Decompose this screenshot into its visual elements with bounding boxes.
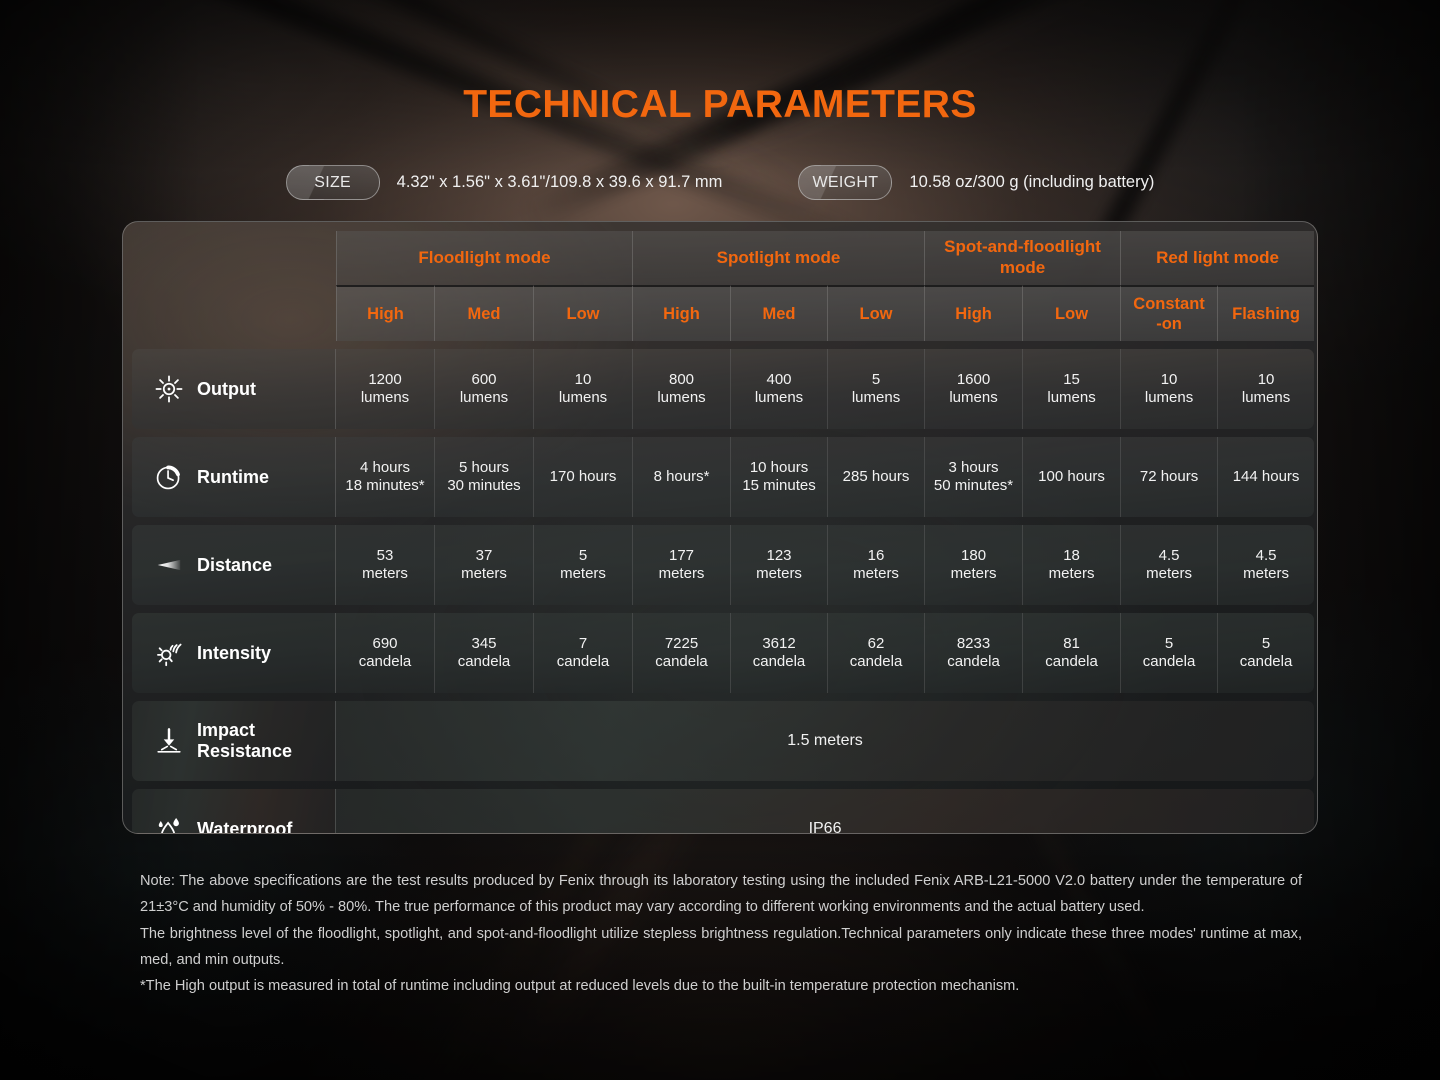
mode-group-spotlight: Spotlight mode <box>632 231 924 285</box>
cell-output-3: 800lumens <box>632 349 730 429</box>
technical-parameters-page: TECHNICAL PARAMETERS SIZE 4.32" x 1.56" … <box>0 0 1440 1080</box>
cell-runtime-9: 144 hours <box>1217 437 1314 517</box>
page-title: TECHNICAL PARAMETERS <box>0 83 1440 127</box>
cell-intensity-0: 690candela <box>336 613 434 693</box>
cell-intensity-8: 5candela <box>1120 613 1217 693</box>
beam-icon <box>154 550 184 580</box>
row-label-runtime: Runtime <box>132 437 336 517</box>
notes-section: Note: The above specifications are the t… <box>140 868 1302 999</box>
row-label-text-runtime: Runtime <box>197 467 269 488</box>
row-label-intensity: Intensity <box>132 613 336 693</box>
table-row-runtime: Runtime 4 hours18 minutes* 5 hours30 min… <box>132 437 1314 517</box>
mode-group-floodlight: Floodlight mode <box>336 231 632 285</box>
header-corner-cell-2 <box>132 285 336 341</box>
cell-output-4: 400lumens <box>730 349 827 429</box>
table-row-waterproof: Waterproof IP66 <box>132 789 1314 834</box>
cell-waterproof-value: IP66 <box>336 789 1314 834</box>
mode-group-spot-and-floodlight: Spot-and-floodlight mode <box>924 231 1120 285</box>
row-label-text-impact: Impact Resistance <box>197 720 292 761</box>
cell-runtime-8: 72 hours <box>1120 437 1217 517</box>
weight-badge: WEIGHT <box>798 165 892 200</box>
cell-impact-resistance-value: 1.5 meters <box>336 701 1314 781</box>
row-label-text-waterproof: Waterproof <box>197 819 292 834</box>
cell-output-7: 15lumens <box>1022 349 1120 429</box>
level-spot-low: Low <box>827 285 924 341</box>
row-label-waterproof: Waterproof <box>132 789 336 834</box>
cell-distance-8: 4.5meters <box>1120 525 1217 605</box>
level-red-flashing: Flashing <box>1217 285 1314 341</box>
sun-icon <box>154 374 184 404</box>
row-label-text-intensity: Intensity <box>197 643 271 664</box>
cell-distance-2: 5meters <box>533 525 632 605</box>
specifications-table: Floodlight mode Spotlight mode Spot-and-… <box>132 231 1314 834</box>
header-corner-cell <box>132 231 336 285</box>
clock-icon <box>154 462 184 492</box>
cell-runtime-0: 4 hours18 minutes* <box>336 437 434 517</box>
table-body: Output 1200lumens 600lumens 10lumens 800… <box>132 341 1314 834</box>
level-header-row: High Med Low High Med Low High Low Const… <box>132 285 1314 341</box>
table-row-impact-resistance: Impact Resistance 1.5 meters <box>132 701 1314 781</box>
size-badge: SIZE <box>286 165 380 200</box>
row-label-impact-resistance: Impact Resistance <box>132 701 336 781</box>
cell-output-9: 10lumens <box>1217 349 1314 429</box>
cell-output-0: 1200lumens <box>336 349 434 429</box>
cell-intensity-2: 7candela <box>533 613 632 693</box>
note-2: The brightness level of the floodlight, … <box>140 921 1302 974</box>
cell-runtime-7: 100 hours <box>1022 437 1120 517</box>
cell-distance-9: 4.5meters <box>1217 525 1314 605</box>
level-flood-med: Med <box>434 285 533 341</box>
cell-intensity-1: 345candela <box>434 613 533 693</box>
cell-runtime-5: 285 hours <box>827 437 924 517</box>
cell-runtime-1: 5 hours30 minutes <box>434 437 533 517</box>
level-flood-low: Low <box>533 285 632 341</box>
intensity-icon <box>154 638 184 668</box>
cell-distance-7: 18meters <box>1022 525 1120 605</box>
table-header: Floodlight mode Spotlight mode Spot-and-… <box>132 231 1314 341</box>
row-label-text-distance: Distance <box>197 555 272 576</box>
table-row-distance: Distance 53meters 37meters 5meters 177me… <box>132 525 1314 605</box>
weight-spec: WEIGHT 10.58 oz/300 g (including battery… <box>798 165 1154 200</box>
cell-intensity-7: 81candela <box>1022 613 1120 693</box>
level-spotflood-high: High <box>924 285 1022 341</box>
spec-summary-strip: SIZE 4.32" x 1.56" x 3.61"/109.8 x 39.6 … <box>0 165 1440 200</box>
cell-output-8: 10lumens <box>1120 349 1217 429</box>
cell-distance-0: 53meters <box>336 525 434 605</box>
cell-distance-6: 180meters <box>924 525 1022 605</box>
cell-output-1: 600lumens <box>434 349 533 429</box>
cell-runtime-4: 10 hours15 minutes <box>730 437 827 517</box>
level-flood-high: High <box>336 285 434 341</box>
size-value: 4.32" x 1.56" x 3.61"/109.8 x 39.6 x 91.… <box>397 173 723 192</box>
cell-intensity-6: 8233candela <box>924 613 1022 693</box>
water-drop-icon <box>154 814 184 834</box>
level-spotflood-low: Low <box>1022 285 1120 341</box>
cell-distance-4: 123meters <box>730 525 827 605</box>
cell-intensity-5: 62candela <box>827 613 924 693</box>
level-spot-med: Med <box>730 285 827 341</box>
mode-group-header-row: Floodlight mode Spotlight mode Spot-and-… <box>132 231 1314 285</box>
cell-intensity-3: 7225candela <box>632 613 730 693</box>
impact-icon <box>154 726 184 756</box>
specifications-panel: Floodlight mode Spotlight mode Spot-and-… <box>122 221 1318 834</box>
size-spec: SIZE 4.32" x 1.56" x 3.61"/109.8 x 39.6 … <box>286 165 723 200</box>
cell-distance-5: 16meters <box>827 525 924 605</box>
note-1: Note: The above specifications are the t… <box>140 868 1302 921</box>
cell-runtime-2: 170 hours <box>533 437 632 517</box>
cell-output-5: 5lumens <box>827 349 924 429</box>
cell-intensity-4: 3612candela <box>730 613 827 693</box>
row-label-text-output: Output <box>197 379 256 400</box>
row-label-output: Output <box>132 349 336 429</box>
cell-output-2: 10lumens <box>533 349 632 429</box>
cell-distance-3: 177meters <box>632 525 730 605</box>
weight-value: 10.58 oz/300 g (including battery) <box>909 173 1154 192</box>
cell-intensity-9: 5candela <box>1217 613 1314 693</box>
cell-runtime-6: 3 hours50 minutes* <box>924 437 1022 517</box>
table-row-output: Output 1200lumens 600lumens 10lumens 800… <box>132 349 1314 429</box>
row-label-distance: Distance <box>132 525 336 605</box>
level-spot-high: High <box>632 285 730 341</box>
cell-runtime-3: 8 hours* <box>632 437 730 517</box>
level-red-constant: Constant-on <box>1120 285 1217 341</box>
note-3: *The High output is measured in total of… <box>140 973 1302 999</box>
cell-output-6: 1600lumens <box>924 349 1022 429</box>
mode-group-red-light: Red light mode <box>1120 231 1314 285</box>
cell-distance-1: 37meters <box>434 525 533 605</box>
table-row-intensity: Intensity 690candela 345candela 7candela… <box>132 613 1314 693</box>
